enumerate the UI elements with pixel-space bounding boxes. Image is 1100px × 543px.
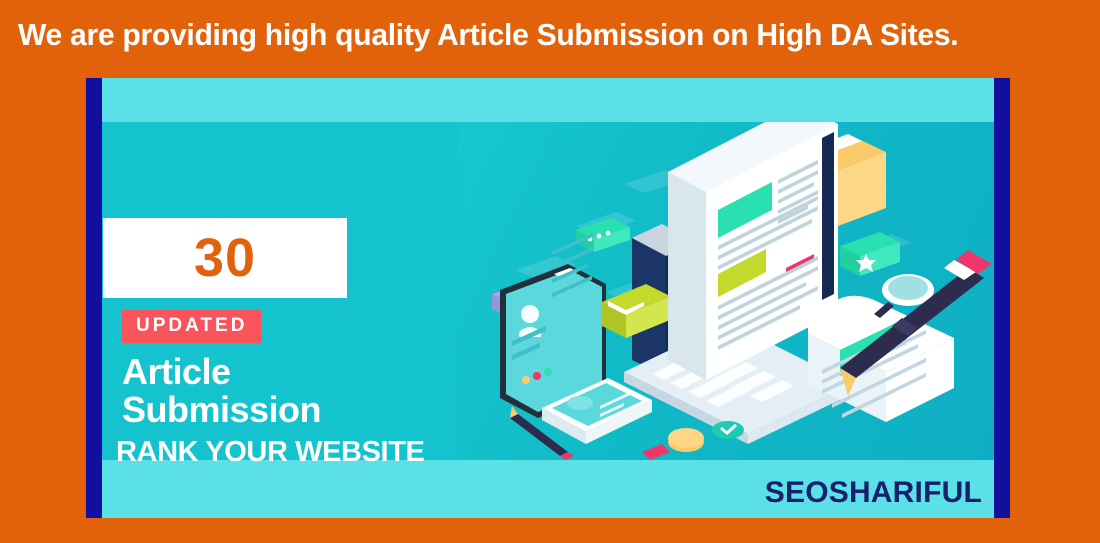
left-info-panel: 30 UPDATED Article Submission RANK YOUR … [102, 122, 458, 460]
card-top-band [86, 78, 1010, 122]
isometric-illustration [458, 122, 994, 460]
card-right-border [994, 78, 1010, 518]
brand-watermark: SEOSHARIFUL [765, 476, 982, 510]
service-subtitle: RANK YOUR WEBSITE [116, 436, 424, 469]
desk-objects [642, 421, 744, 460]
status-badge: UPDATED [122, 310, 261, 343]
chat-card-icon [576, 218, 630, 252]
page-title: We are providing high quality Article Su… [18, 17, 1056, 53]
illustration-panel [458, 122, 994, 460]
card-left-border [86, 78, 102, 518]
count-box: 30 [103, 218, 347, 298]
service-title-line-2: Submission [122, 392, 321, 428]
service-title-line-1: Article [122, 354, 231, 390]
promo-card: 30 UPDATED Article Submission RANK YOUR … [86, 78, 1010, 518]
count-value: 30 [194, 231, 256, 285]
star-card-icon [840, 232, 900, 276]
